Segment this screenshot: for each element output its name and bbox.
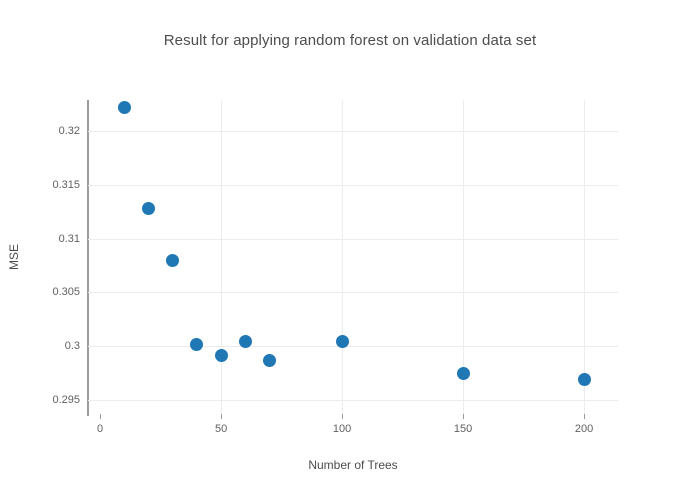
y-axis-tick-label: 0.315 [20, 179, 80, 191]
gridline-vertical [584, 100, 585, 414]
y-axis-tick-label: 0.3 [20, 340, 80, 352]
gridline-horizontal [88, 131, 618, 132]
data-point[interactable] [215, 349, 228, 362]
x-axis-tick-label: 150 [433, 423, 493, 435]
gridline-horizontal [88, 400, 618, 401]
chart-title: Result for applying random forest on val… [0, 32, 700, 49]
y-axis-tick-label: 0.32 [20, 125, 80, 137]
gridline-horizontal [88, 292, 618, 293]
data-point[interactable] [457, 367, 470, 380]
data-point[interactable] [118, 101, 131, 114]
x-axis-tick-label: 200 [554, 423, 614, 435]
data-point[interactable] [142, 202, 155, 215]
y-axis-tick-label: 0.295 [20, 394, 80, 406]
gridline-vertical [221, 100, 222, 414]
y-axis-tick-label: 0.305 [20, 286, 80, 298]
y-axis-tick-label: 0.31 [20, 233, 80, 245]
gridline-horizontal [88, 239, 618, 240]
gridline-horizontal [88, 185, 618, 186]
x-axis-tick-label: 50 [191, 423, 251, 435]
data-point[interactable] [263, 354, 276, 367]
data-point[interactable] [190, 338, 203, 351]
x-axis-tick-mark [342, 414, 343, 419]
x-axis-tick-label: 0 [70, 423, 130, 435]
gridline-vertical [342, 100, 343, 414]
chart-figure: Result for applying random forest on val… [0, 0, 700, 500]
x-axis-title: Number of Trees [88, 458, 618, 472]
x-axis-tick-mark [221, 414, 222, 419]
x-axis-tick-label: 100 [312, 423, 372, 435]
x-axis-tick-mark [100, 414, 101, 419]
x-axis-tick-mark [584, 414, 585, 419]
data-point[interactable] [336, 335, 349, 348]
gridline-horizontal [88, 346, 618, 347]
data-point[interactable] [166, 254, 179, 267]
y-axis-title: MSE [7, 244, 21, 270]
x-axis-tick-mark [463, 414, 464, 419]
plot-area [88, 100, 618, 414]
data-point[interactable] [578, 373, 591, 386]
